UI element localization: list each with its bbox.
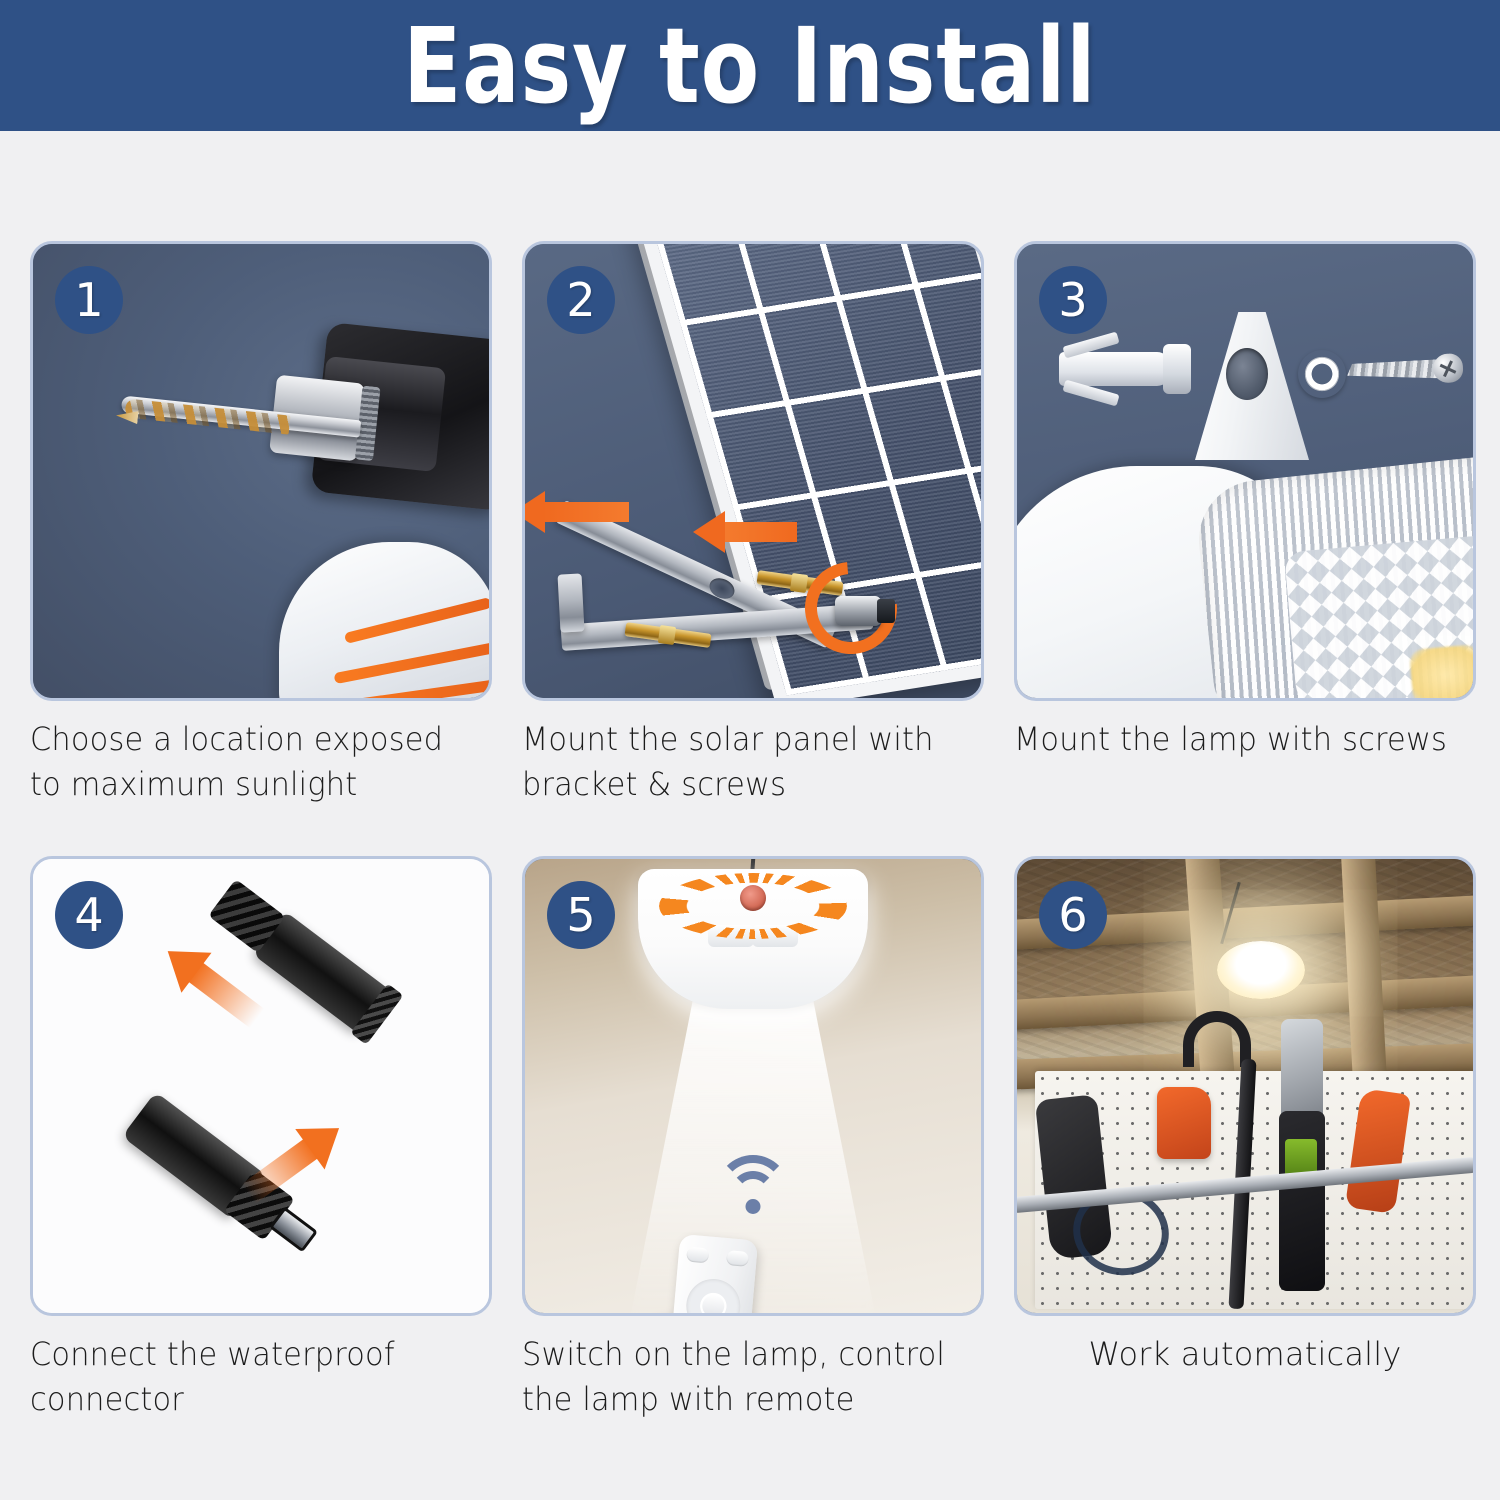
page-title: Easy to Install (403, 14, 1096, 118)
step-image-6: 6 (1014, 856, 1476, 1316)
step-caption-6: Work automatically (1014, 1332, 1476, 1377)
screw-head-icon (1432, 353, 1463, 384)
step-image-5: 5 (522, 856, 984, 1316)
bolt-nut-icon (790, 573, 808, 593)
header-banner: Easy to Install (0, 0, 1500, 131)
step-card-6: 6 Work automatically (1014, 856, 1476, 1377)
step-card-1: 1 Choose a location exposed to maximum s… (30, 241, 500, 808)
step-badge-4: 4 (55, 881, 123, 949)
step-caption-5: Switch on the lamp, control the lamp wit… (522, 1332, 969, 1423)
ceiling-lamp-icon (638, 869, 868, 1009)
washer-icon (1298, 350, 1346, 398)
remote-button-icon[interactable] (686, 1247, 709, 1264)
step-badge-3: 3 (1039, 266, 1107, 334)
step-caption-1: Choose a location exposed to maximum sun… (30, 717, 477, 808)
step-card-3: 3 Mount the lamp with screws (1014, 241, 1484, 762)
highlight-dashed-ellipse-icon (659, 873, 847, 939)
wifi-dot-icon (746, 1199, 761, 1214)
remote-button-icon[interactable] (726, 1250, 749, 1267)
screw-shaft-icon (1347, 359, 1440, 383)
left-arrow-icon (543, 502, 629, 522)
step-caption-2: Mount the solar panel with bracket & scr… (522, 717, 969, 808)
step-card-4: 4 Connect the waterproof connector (30, 856, 500, 1423)
step-badge-5: 5 (547, 881, 615, 949)
lamp-diamond-lens-icon (1284, 536, 1476, 701)
bracket-vertical-arm-icon (557, 573, 584, 632)
step-badge-6: 6 (1039, 881, 1107, 949)
step-image-4: 4 (30, 856, 492, 1316)
lit-lamp-icon (1217, 941, 1305, 999)
step-card-5: 5 Switch on the lamp, control the lamp w… (522, 856, 992, 1423)
tool-battery-body-icon (1279, 1111, 1325, 1291)
step-caption-4: Connect the waterproof connector (30, 1332, 477, 1423)
steps-grid: 1 Choose a location exposed to maximum s… (0, 131, 1500, 1500)
step-card-2: 2 Mount the solar panel with bracket & s… (522, 241, 992, 808)
wall-plug-anchor-icon (1059, 352, 1171, 386)
step-image-3: 3 (1014, 241, 1476, 701)
right-arrow-icon (723, 522, 797, 542)
wifi-signal-icon (716, 1155, 790, 1215)
step-image-2: 2 (522, 241, 984, 701)
step-caption-3: Mount the lamp with screws (1014, 717, 1461, 762)
lamp-warm-glow-icon (1409, 644, 1476, 701)
bolt-nut-icon (658, 625, 676, 645)
step-badge-1: 1 (55, 266, 123, 334)
glove-stripe-icon (334, 641, 492, 684)
screw-icon (1346, 353, 1463, 387)
step-badge-2: 2 (547, 266, 615, 334)
remote-control-icon[interactable] (666, 1234, 758, 1316)
remote-dial-icon[interactable] (684, 1277, 743, 1316)
glove-stripe-icon (344, 597, 492, 644)
mounting-hole-icon (1226, 348, 1268, 400)
glove-stripe-icon (323, 679, 492, 701)
pivot-bolt-icon (835, 596, 881, 626)
remote-top-row (686, 1247, 749, 1270)
step-image-1: 1 (30, 241, 492, 701)
tool-leaf-blower-icon (1157, 1087, 1211, 1159)
wall-plug-head-icon (1163, 344, 1191, 394)
